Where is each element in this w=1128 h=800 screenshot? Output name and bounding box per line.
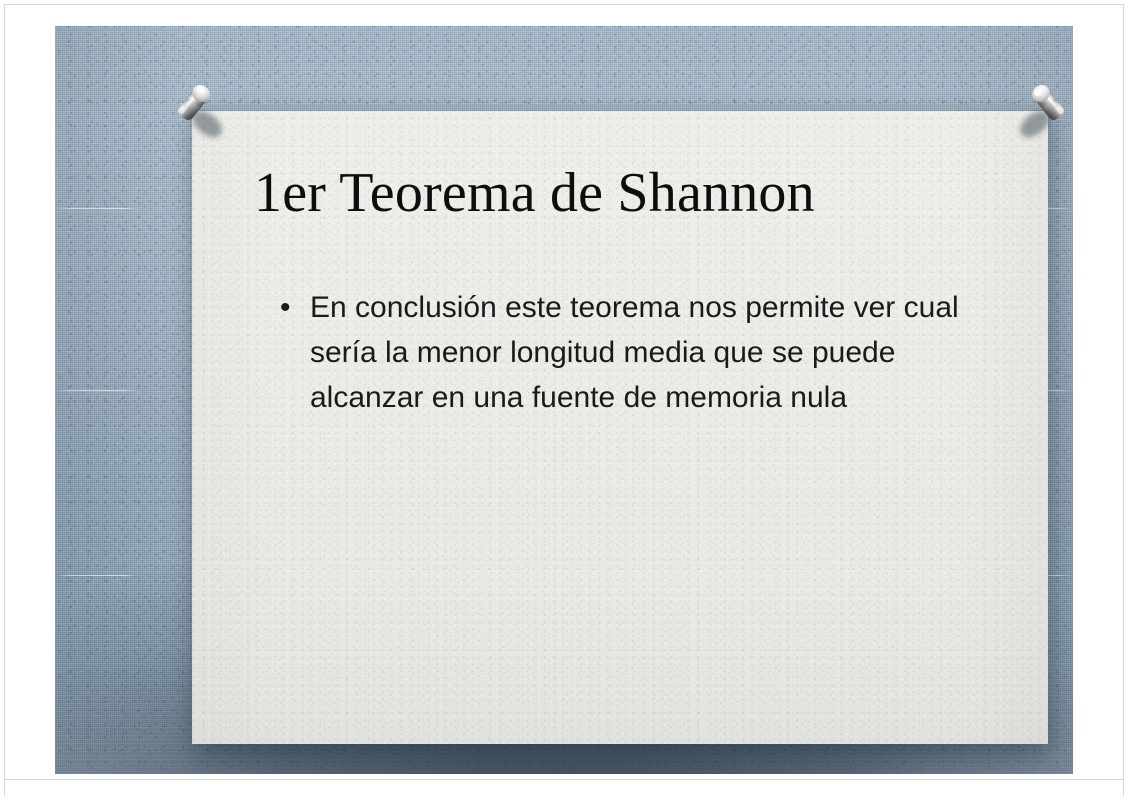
bullet-point-icon: • <box>280 285 310 330</box>
bullet-list-item: • En conclusión este teorema nos permite… <box>280 285 970 420</box>
slide-canvas: 1er Teorema de Shannon • En conclusión e… <box>55 26 1073 774</box>
frame-rule-top <box>4 4 1124 5</box>
pushpin-icon <box>999 74 1073 150</box>
paper-sheet: 1er Teorema de Shannon • En conclusión e… <box>192 111 1048 744</box>
page-frame: 1er Teorema de Shannon • En conclusión e… <box>0 0 1128 800</box>
background-seam-line <box>55 575 139 576</box>
pushpin-icon <box>167 74 243 150</box>
slide-title: 1er Teorema de Shannon <box>254 163 994 223</box>
slide-body-list: • En conclusión este teorema nos permite… <box>280 285 970 420</box>
background-seam-line <box>55 208 139 209</box>
frame-rule-bottom <box>4 779 1124 780</box>
bullet-item-text: En conclusión este teorema nos permite v… <box>310 285 970 420</box>
frame-rule-right <box>1123 4 1124 796</box>
slide-content: 1er Teorema de Shannon • En conclusión e… <box>192 111 1048 744</box>
frame-rule-left <box>4 4 5 796</box>
background-seam-line <box>55 390 139 391</box>
